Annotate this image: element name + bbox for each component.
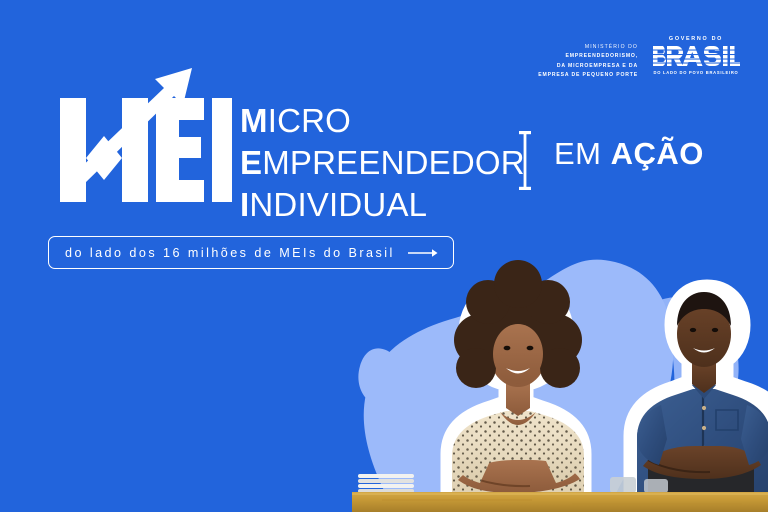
headline-rest-individual: NDIVIDUAL xyxy=(249,186,427,223)
headline-rest-empreendedor: MPREENDEDOR xyxy=(262,144,525,181)
governo-tagline: DO LADO DO POVO BRASILEIRO xyxy=(652,70,740,75)
mei-logo xyxy=(52,46,232,211)
arrow-right-icon xyxy=(408,248,438,258)
ministry-line-4: EMPRESA DE PEQUENO PORTE xyxy=(538,71,638,80)
campaign-label: EM AÇÃO xyxy=(554,136,704,172)
ministry-wordmark: MINISTÉRIO DO EMPREENDEDORISMO, DA MICRO… xyxy=(538,36,638,81)
wooden-counter xyxy=(352,472,768,512)
governo-do-label: GOVERNO DO xyxy=(652,36,740,42)
ministry-line-2: EMPREENDEDORISMO, xyxy=(538,52,638,61)
headline-rest-micro: ICRO xyxy=(268,102,351,139)
brasil-wordmark-icon xyxy=(652,45,740,67)
headline-line-individual: INDIVIDUAL xyxy=(240,184,525,226)
tagline-text: do lado dos 16 milhões de MEIs do Brasil xyxy=(65,246,395,260)
glassware xyxy=(610,477,668,493)
headline-line-empreendedor: EMPREENDEDOR xyxy=(240,142,525,184)
ministry-line-1: MINISTÉRIO DO xyxy=(538,43,638,52)
campaign-prefix: EM xyxy=(554,136,611,171)
ministry-line-3: DA MICROEMPRESA E DA xyxy=(538,62,638,71)
governo-do-brasil-logo: GOVERNO DO xyxy=(652,36,740,75)
government-lockup: MINISTÉRIO DO EMPREENDEDORISMO, DA MICRO… xyxy=(538,36,740,81)
campaign-emphasis: AÇÃO xyxy=(611,136,704,171)
vertical-divider-icon xyxy=(518,131,532,190)
headline-stack: MICRO EMPREENDEDOR INDIVIDUAL xyxy=(240,100,525,226)
headline-initial-e: E xyxy=(240,144,262,181)
tagline-pill[interactable]: do lado dos 16 milhões de MEIs do Brasil xyxy=(48,236,454,269)
mei-campaign-banner: MINISTÉRIO DO EMPREENDEDORISMO, DA MICRO… xyxy=(0,0,768,512)
headline-line-micro: MICRO xyxy=(240,100,525,142)
headline-initial-m: M xyxy=(240,102,268,139)
headline-initial-i: I xyxy=(240,186,249,223)
stacked-plates xyxy=(358,474,414,493)
